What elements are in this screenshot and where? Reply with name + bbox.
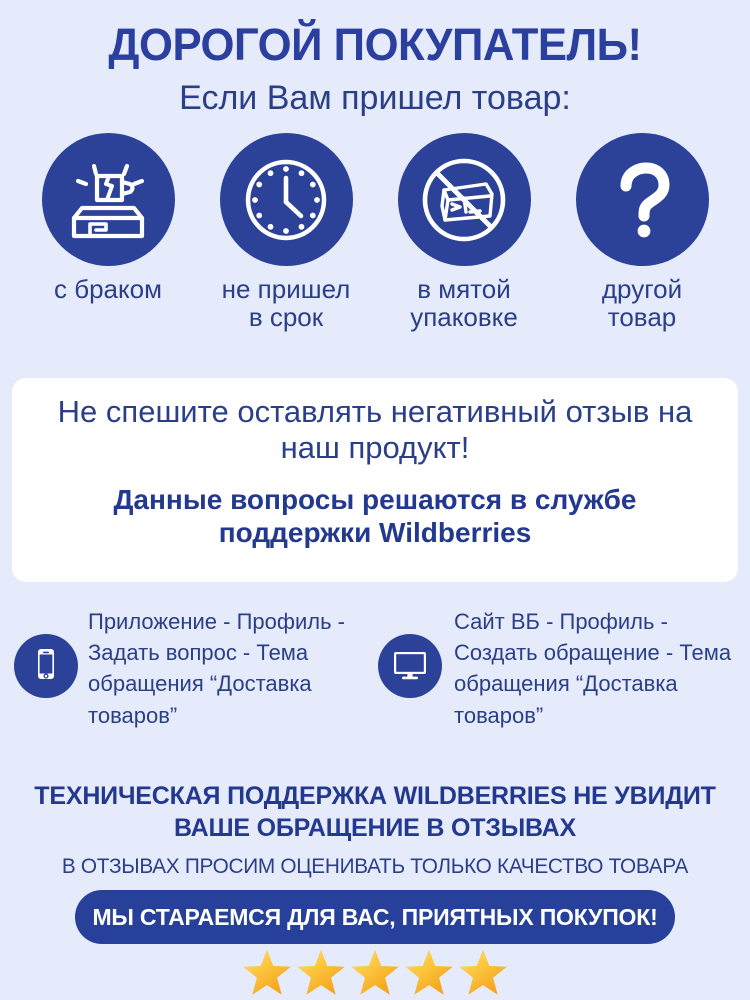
promo-banner: ДОРОГОЙ ПОКУПАТЕЛЬ! Если Вам пришел това…	[0, 0, 750, 1000]
reason-label: с браком	[54, 275, 162, 303]
reason-item-crumpled: в мятой упаковке	[380, 133, 548, 331]
howto-icon-circle	[378, 634, 442, 698]
reason-item-other: другой товар	[558, 133, 726, 331]
question-mark-icon	[596, 154, 688, 246]
howto-app: Приложение - Профиль - Задать вопрос - Т…	[14, 606, 372, 731]
reason-icon-circle	[576, 133, 709, 266]
page-subtitle: Если Вам пришел товар:	[0, 81, 750, 115]
cta-button[interactable]: МЫ СТАРАЕМСЯ ДЛЯ ВАС, ПРИЯТНЫХ ПОКУПОК!	[75, 890, 675, 944]
notice-bold-text: Данные вопросы решаются в службе поддерж…	[34, 483, 716, 549]
broken-item-in-box-icon	[62, 154, 154, 246]
star-icon	[349, 948, 401, 1000]
howto-website: Сайт ВБ - Профиль - Создать обращение - …	[378, 606, 736, 731]
howto-text: Приложение - Профиль - Задать вопрос - Т…	[88, 606, 372, 731]
notice-card: Не спешите оставлять негативный отзыв на…	[12, 378, 738, 582]
reason-label: другой товар	[602, 275, 682, 331]
reason-label: в мятой упаковке	[410, 275, 518, 331]
mobile-phone-icon	[26, 644, 66, 689]
support-warning-text: ТЕХНИЧЕСКАЯ ПОДДЕРЖКА WILDBERRIES НЕ УВИ…	[0, 781, 750, 844]
clock-icon	[238, 152, 334, 248]
no-crumpled-package-icon	[414, 150, 514, 250]
howto-icon-circle	[14, 634, 78, 698]
reason-icon-circle	[398, 133, 531, 266]
page-title: ДОРОГОЙ ПОКУПАТЕЛЬ!	[11, 0, 739, 67]
star-icon	[295, 948, 347, 1000]
star-rating	[0, 948, 750, 1000]
howto-section: Приложение - Профиль - Задать вопрос - Т…	[0, 606, 750, 731]
reason-icon-circle	[42, 133, 175, 266]
desktop-monitor-icon	[389, 643, 431, 690]
star-icon	[457, 948, 509, 1000]
review-guidance-text: В ОТЗЫВАХ ПРОСИМ ОЦЕНИВАТЬ ТОЛЬКО КАЧЕСТ…	[4, 855, 747, 879]
reason-label: не пришел в срок	[222, 275, 351, 331]
reason-item-late: не пришел в срок	[202, 133, 370, 331]
reason-item-defect: с браком	[24, 133, 192, 331]
howto-text: Сайт ВБ - Профиль - Создать обращение - …	[454, 606, 736, 731]
star-icon	[241, 948, 293, 1000]
reason-icon-row: с браком	[0, 133, 750, 331]
reason-icon-circle	[220, 133, 353, 266]
star-icon	[403, 948, 455, 1000]
notice-lead-text: Не спешите оставлять негативный отзыв на…	[34, 394, 716, 466]
